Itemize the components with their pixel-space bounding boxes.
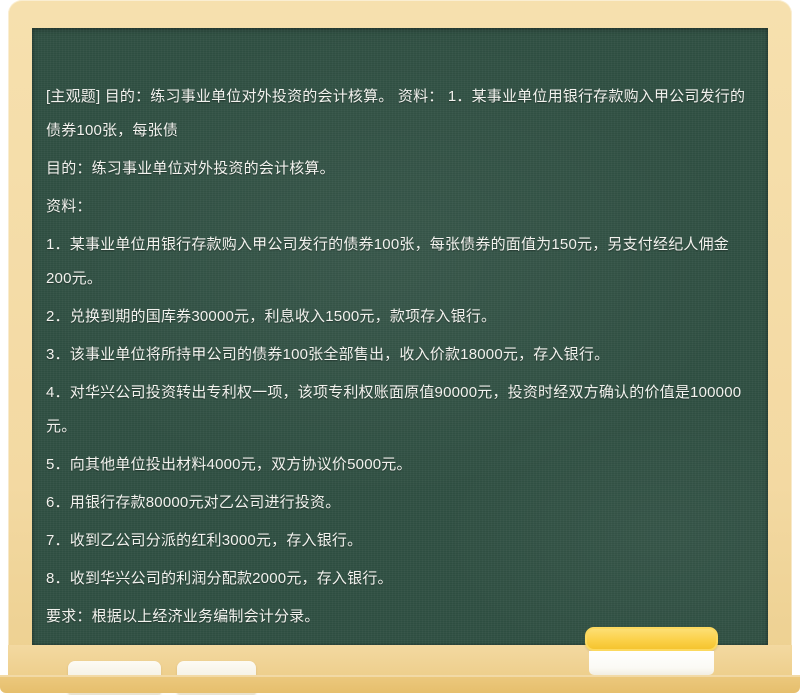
material-item-3: 3．该事业单位将所持甲公司的债券100张全部售出，收入价款18000元，存入银行… [46, 338, 754, 372]
submit-button-shelf [589, 651, 714, 675]
material-item-8: 8．收到华兴公司的利润分配款2000元，存入银行。 [46, 562, 754, 596]
chalkboard-ledge-lip-highlight [0, 675, 800, 677]
material-item-5: 5．向其他单位投出材料4000元，双方协议价5000元。 [46, 448, 754, 482]
question-purpose: 目的：练习事业单位对外投资的会计核算。 [46, 152, 754, 186]
material-item-4: 4．对华兴公司投资转出专利权一项，该项专利权账面原值90000元，投资时经双方确… [46, 376, 754, 444]
chalkboard-ledge-lip [0, 675, 800, 693]
question-content: [主观题] 目的：练习事业单位对外投资的会计核算。 资料： 1．某事业单位用银行… [46, 80, 754, 638]
chalkboard-surface: [主观题] 目的：练习事业单位对外投资的会计核算。 资料： 1．某事业单位用银行… [32, 28, 768, 645]
material-item-2: 2．兑换到期的国库券30000元，利息收入1500元，款项存入银行。 [46, 300, 754, 334]
material-item-7: 7．收到乙公司分派的红利3000元，存入银行。 [46, 524, 754, 558]
question-heading: [主观题] 目的：练习事业单位对外投资的会计核算。 资料： 1．某事业单位用银行… [46, 80, 754, 148]
submit-button-label [587, 629, 588, 630]
materials-label: 资料： [46, 190, 754, 224]
material-item-1: 1．某事业单位用银行存款购入甲公司发行的债券100张，每张债券的面值为150元，… [46, 228, 754, 296]
submit-button[interactable] [585, 627, 718, 651]
material-item-6: 6．用银行存款80000元对乙公司进行投资。 [46, 486, 754, 520]
